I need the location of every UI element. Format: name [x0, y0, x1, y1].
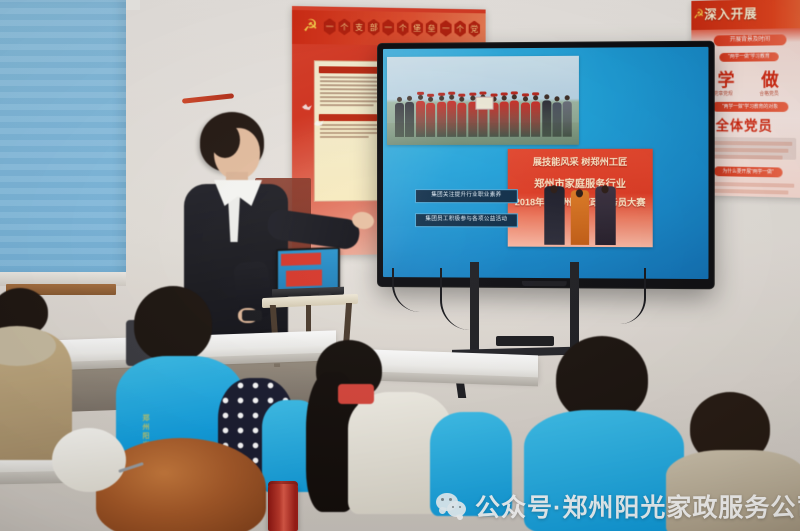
photo-person-head — [523, 96, 528, 101]
presentation-display[interactable]: 展技能风采 树郑州工匠 郑州市家庭服务行业 2018年度郑州市家政服务员大赛 集… — [378, 42, 714, 289]
poster-pill-why: 为什么要开展"两学一做" — [714, 166, 783, 177]
photo-person-hat — [438, 93, 445, 96]
poster-headline: 深入开展 — [704, 3, 757, 23]
photo-person-head — [428, 97, 433, 102]
hammer-sickle-icon: ☭ — [301, 16, 320, 35]
trainee-head — [134, 286, 212, 362]
photo-person — [416, 101, 425, 137]
photo-person-head — [544, 94, 549, 99]
photo-canvas: ☭ 一个支部一个堡垒一个党 ☭ 深入开展 开展背景及时间 "两学一 — [0, 0, 800, 531]
photo-person — [426, 103, 435, 137]
hammer-sickle-icon: ☭ — [693, 6, 704, 22]
slide-caption-2: 集团员工积极参与各项公益活动 — [415, 213, 518, 227]
photo-person-head — [449, 95, 454, 100]
photo-person-head — [418, 95, 423, 100]
poster-pill-program: "两学一做"学习教育 — [719, 52, 778, 61]
photo-person — [437, 102, 446, 137]
photo-person-hat — [522, 93, 529, 96]
photo-person — [563, 101, 572, 136]
photo-person-head — [460, 97, 465, 102]
photo-person — [521, 102, 530, 136]
photo-person — [458, 103, 467, 137]
photo-person-head — [533, 95, 538, 100]
window-blind — [0, 0, 126, 276]
poster-slogan-char: 垒 — [426, 20, 437, 37]
poster-char-do: 做 — [761, 66, 778, 92]
poster-pill-background: 开展背景及时间 — [714, 34, 787, 46]
presentation-clicker[interactable] — [242, 310, 262, 321]
poster-sub-left: 党章党规 — [714, 90, 733, 97]
red-scarf — [338, 384, 374, 404]
photo-person-head — [502, 96, 507, 101]
photo-person — [405, 102, 414, 137]
trainee-coat-2 — [666, 450, 800, 531]
poster-sub-right: 合格党员 — [759, 90, 778, 97]
photo-person — [500, 102, 509, 137]
tv-bezel-logo — [522, 281, 567, 286]
photo-person-hat — [532, 92, 539, 95]
photo-person-hat — [427, 94, 434, 97]
photo-person-hat — [417, 92, 424, 95]
photo-person-head — [439, 96, 444, 101]
group-award-photo — [387, 56, 579, 145]
photo-person-hat — [469, 93, 476, 96]
photo-person — [542, 100, 551, 136]
poster-slogan-char: 个 — [397, 19, 409, 36]
poster-pill-target: "两学一做"学习教育的对象 — [712, 102, 788, 112]
power-strip — [496, 336, 554, 346]
speaker-hair-front — [210, 122, 240, 158]
poster-slogan-char: 支 — [353, 19, 365, 36]
photo-person-hat — [448, 92, 455, 95]
poster-slogan-char: 个 — [454, 20, 465, 37]
certificate-prop — [475, 97, 493, 110]
photo-person — [552, 102, 561, 136]
poster-slogan-char: 一 — [324, 18, 336, 35]
slide-caption-1: 集团关注提升行业职业素养 — [415, 189, 518, 203]
photo-person-hat — [459, 94, 466, 97]
trainee-blue-vest — [430, 412, 512, 516]
photo-person-head — [407, 96, 412, 101]
banner-line-1: 展技能风采 树郑州工匠 — [508, 155, 653, 168]
award-ceremony-photo: 展技能风采 树郑州工匠 郑州市家庭服务行业 2018年度郑州市家政服务员大赛 — [508, 149, 653, 247]
photo-person — [510, 100, 519, 136]
photo-person-head — [565, 95, 570, 100]
poster-slogan-char: 部 — [368, 19, 380, 36]
poster-slogan-char: 党 — [469, 20, 480, 37]
tv-screen: 展技能风采 树郑州工匠 郑州市家庭服务行业 2018年度郑州市家政服务员大赛 集… — [383, 47, 708, 279]
poster-all-members: 全体党员 — [716, 116, 773, 136]
photo-person-hat — [501, 92, 508, 95]
poster-slogan-char: 一 — [440, 20, 451, 37]
poster-char-study: 学 — [718, 67, 735, 93]
poster-slogan-char: 个 — [339, 18, 351, 35]
white-knit-sleeve — [52, 428, 126, 492]
photo-person-head — [512, 94, 517, 99]
photo-person-hat — [480, 92, 487, 95]
banner-line-2: 郑州市家庭服务行业 — [508, 175, 653, 190]
photo-person-head — [554, 96, 559, 101]
photo-person — [447, 101, 456, 137]
photo-person — [395, 103, 404, 137]
poster-slogan-char: 堡 — [411, 19, 423, 36]
red-thermos[interactable] — [268, 484, 298, 531]
photo-person-head — [397, 97, 402, 102]
poster-slogan-char: 一 — [382, 19, 394, 36]
photo-person-hat — [511, 91, 518, 94]
trainee-blue-vest — [524, 410, 684, 531]
poster-slogan: 一个支部一个堡垒一个党 — [324, 17, 480, 39]
photo-person — [531, 101, 540, 136]
